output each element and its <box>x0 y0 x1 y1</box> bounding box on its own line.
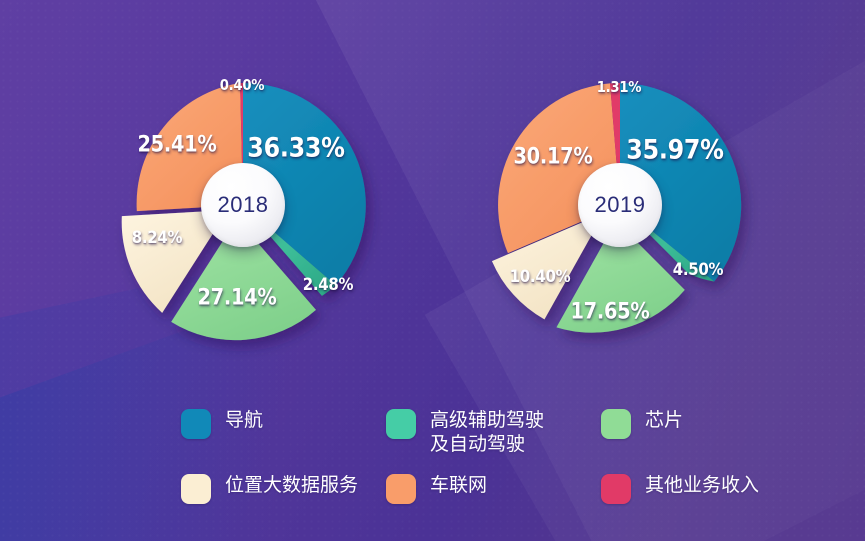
legend-swatch-bigdata-icon <box>181 474 211 504</box>
pie-2019-year-label: 2019 <box>595 192 646 218</box>
legend-label-adas: 高级辅助驾驶 及自动驾驶 <box>430 408 544 456</box>
legend-item-chip[interactable]: 芯片 <box>601 408 683 439</box>
pie-chart-group: 2018 36.33% 2.48% 27.14% 8.24% 25.41% 0.… <box>0 0 865 380</box>
legend-item-navigation[interactable]: 导航 <box>181 408 263 439</box>
legend-swatch-navigation-icon <box>181 409 211 439</box>
pie-2019-center-hub: 2019 <box>578 163 662 247</box>
legend-label-chip: 芯片 <box>645 408 683 432</box>
pie-2018-label-chip: 27.14% <box>197 286 276 311</box>
pie-2019-label-telematics: 30.17% <box>513 145 592 170</box>
pie-2018-label-other: 0.40% <box>220 76 264 94</box>
legend-label-other: 其他业务收入 <box>645 473 759 497</box>
pie-2019-label-chip: 17.65% <box>570 300 649 325</box>
legend-item-other[interactable]: 其他业务收入 <box>601 473 759 504</box>
legend-label-telematics: 车联网 <box>430 473 487 497</box>
legend-item-telematics[interactable]: 车联网 <box>386 473 487 504</box>
pie-2018-year-label: 2018 <box>218 192 269 218</box>
legend-label-navigation: 导航 <box>225 408 263 432</box>
pie-2018-label-adas: 2.48% <box>303 275 354 295</box>
legend: 导航 高级辅助驾驶 及自动驾驶 芯片 位置大数据服务 车联网 其他业务收入 <box>0 392 865 522</box>
legend-swatch-adas-icon <box>386 409 416 439</box>
pie-2019-label-bigdata: 10.40% <box>510 267 571 287</box>
pie-2018-label-telematics: 25.41% <box>137 133 216 158</box>
legend-swatch-telematics-icon <box>386 474 416 504</box>
legend-item-bigdata[interactable]: 位置大数据服务 <box>181 473 358 504</box>
pie-2018-label-navigation: 36.33% <box>247 133 344 164</box>
pie-2019-label-other: 1.31% <box>597 78 641 96</box>
pie-2019-label-adas: 4.50% <box>673 260 724 280</box>
legend-swatch-other-icon <box>601 474 631 504</box>
infographic-canvas: 2018 36.33% 2.48% 27.14% 8.24% 25.41% 0.… <box>0 0 865 541</box>
pie-chart-2019: 2019 35.97% 4.50% 17.65% 10.40% 30.17% 1… <box>430 0 810 380</box>
legend-label-bigdata: 位置大数据服务 <box>225 473 358 497</box>
pie-2018-center-hub: 2018 <box>201 163 285 247</box>
pie-2019-label-navigation: 35.97% <box>626 135 723 166</box>
pie-chart-2018: 2018 36.33% 2.48% 27.14% 8.24% 25.41% 0.… <box>50 0 430 380</box>
legend-swatch-chip-icon <box>601 409 631 439</box>
legend-item-adas[interactable]: 高级辅助驾驶 及自动驾驶 <box>386 408 544 456</box>
pie-2018-label-bigdata: 8.24% <box>132 228 183 248</box>
